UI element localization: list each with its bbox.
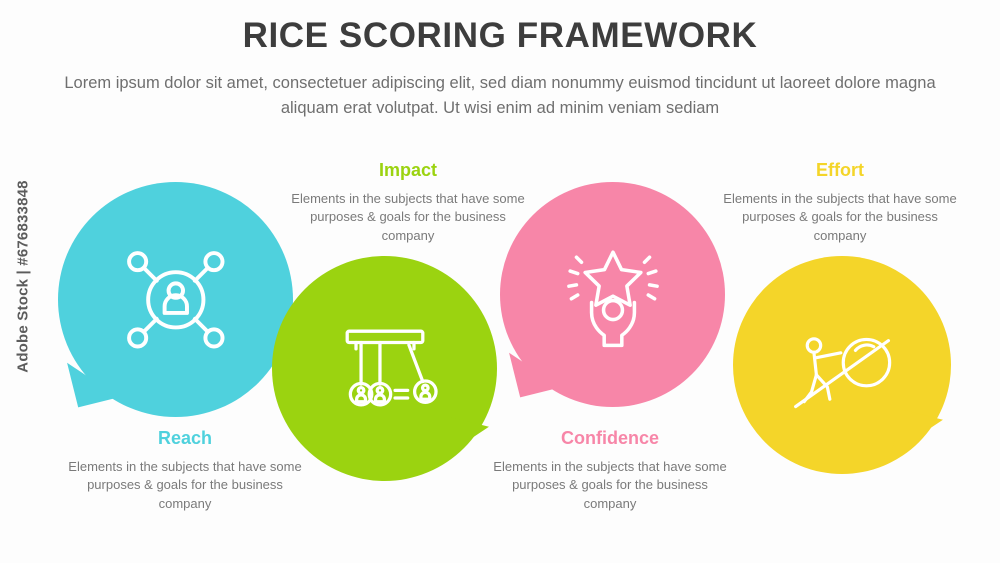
text-block-confidence: Confidence Elements in the subjects that…: [485, 428, 735, 514]
label-impact: Impact: [283, 160, 533, 182]
description-impact: Elements in the subjects that have some …: [283, 190, 533, 247]
description-effort: Elements in the subjects that have some …: [715, 190, 965, 247]
bubble-reach[interactable]: [58, 182, 293, 417]
description-reach: Elements in the subjects that have some …: [60, 458, 310, 515]
header: RICE SCORING FRAMEWORK Lorem ipsum dolor…: [0, 18, 1000, 122]
label-reach: Reach: [60, 428, 310, 450]
bubble-confidence[interactable]: [500, 182, 725, 407]
page-title: RICE SCORING FRAMEWORK: [0, 18, 1000, 55]
person-star-celebrate-icon: [550, 232, 676, 358]
text-block-impact: Impact Elements in the subjects that hav…: [283, 160, 533, 246]
newtons-cradle-icon: [322, 306, 448, 432]
text-block-reach: Reach Elements in the subjects that have…: [60, 428, 310, 514]
page-subtitle: Lorem ipsum dolor sit amet, consectetuer…: [0, 71, 1000, 122]
infographic-canvas: Adobe Stock | #676833848 RICE SCORING FR…: [0, 0, 1000, 563]
label-confidence: Confidence: [485, 428, 735, 450]
network-person-icon: [110, 234, 242, 366]
adobe-stock-watermark: Adobe Stock | #676833848: [15, 162, 32, 392]
bubble-effort[interactable]: [733, 256, 951, 474]
text-block-effort: Effort Elements in the subjects that hav…: [715, 160, 965, 246]
description-confidence: Elements in the subjects that have some …: [485, 458, 735, 515]
person-pushing-boulder-icon: [781, 304, 903, 426]
label-effort: Effort: [715, 160, 965, 182]
